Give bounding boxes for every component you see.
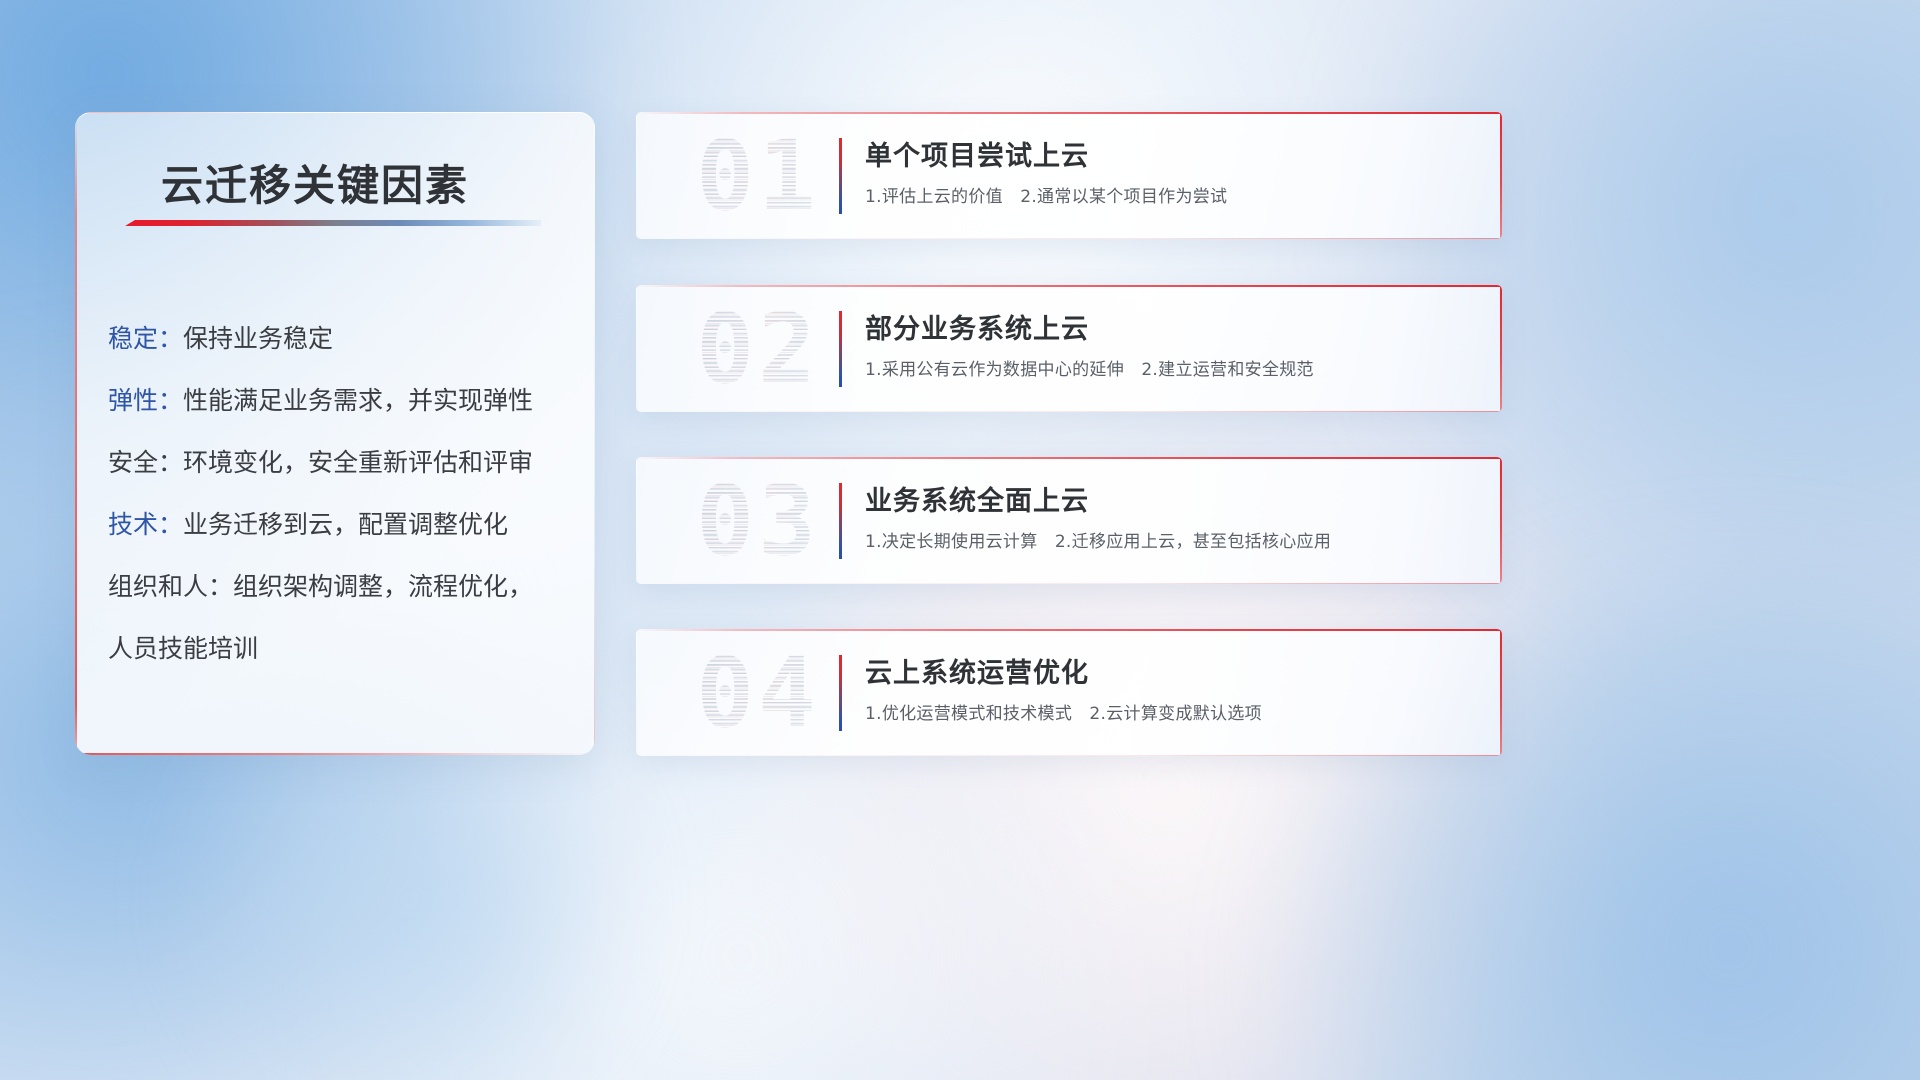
slide-stage: 云迁移关键因素 稳定：保持业务稳定 弹性：性能满足业务需求，并实现弹性 安全：环… bbox=[0, 0, 1920, 1080]
stage-number-ghost-overlay: 01 bbox=[658, 122, 858, 230]
card-right-accent bbox=[1500, 629, 1502, 756]
card-right-accent bbox=[1500, 112, 1502, 239]
stage-title: 云上系统运营优化 bbox=[865, 651, 1089, 690]
page-title: 云迁移关键因素 bbox=[161, 152, 561, 213]
stage-description: 1.优化运营模式和技术模式 2.云计算变成默认选项 bbox=[865, 699, 1262, 724]
stage-number-ghost-overlay: 03 bbox=[658, 467, 858, 575]
card-bottom-accent bbox=[636, 411, 1502, 412]
stage-title: 部分业务系统上云 bbox=[865, 307, 1089, 346]
stage-number-text-overlay: 04 bbox=[696, 637, 820, 749]
card-top-accent bbox=[636, 285, 1502, 287]
list-item-label: 弹性： bbox=[108, 386, 183, 415]
stage-card-02[interactable]: 02 02 部分业务系统上云 1.采用公有云作为数据中心的延伸 2.建立运营和安… bbox=[636, 285, 1502, 412]
card-top-accent bbox=[636, 112, 1502, 114]
stage-description: 1.决定长期使用云计算 2.迁移应用上云，甚至包括核心应用 bbox=[865, 527, 1331, 552]
stage-description: 1.评估上云的价值 2.通常以某个项目作为尝试 bbox=[865, 182, 1227, 207]
list-item: 组织和人：组织架构调整，流程优化， bbox=[108, 556, 578, 618]
list-item-label: 组织和人： bbox=[108, 572, 233, 601]
card-right-accent bbox=[1500, 285, 1502, 412]
list-item-label: 技术： bbox=[108, 510, 183, 539]
card-left-edge bbox=[636, 629, 637, 756]
card-right-edge bbox=[594, 112, 595, 755]
list-item-label: 稳定： bbox=[108, 324, 183, 353]
key-factors-list: 稳定：保持业务稳定 弹性：性能满足业务需求，并实现弹性 安全：环境变化，安全重新… bbox=[108, 308, 578, 680]
list-item-text: 性能满足业务需求，并实现弹性 bbox=[183, 386, 533, 415]
card-top-accent bbox=[636, 457, 1502, 459]
stage-number-text-overlay: 02 bbox=[696, 293, 820, 405]
card-bottom-accent bbox=[636, 755, 1502, 756]
divider-bar bbox=[839, 311, 842, 387]
divider-bar bbox=[839, 655, 842, 731]
stage-description: 1.采用公有云作为数据中心的延伸 2.建立运营和安全规范 bbox=[865, 355, 1314, 380]
divider-bar bbox=[839, 483, 842, 559]
list-item: 安全：环境变化，安全重新评估和评审 bbox=[108, 432, 578, 494]
list-item: 弹性：性能满足业务需求，并实现弹性 bbox=[108, 370, 578, 432]
card-bottom-accent bbox=[636, 583, 1502, 584]
list-item-text: 环境变化，安全重新评估和评审 bbox=[183, 448, 533, 477]
stage-card-03[interactable]: 03 03 业务系统全面上云 1.决定长期使用云计算 2.迁移应用上云，甚至包括… bbox=[636, 457, 1502, 584]
list-item: 稳定：保持业务稳定 bbox=[108, 308, 578, 370]
stage-title: 业务系统全面上云 bbox=[865, 479, 1089, 518]
divider-bar bbox=[839, 138, 842, 214]
card-left-edge bbox=[636, 112, 637, 239]
card-left-edge-red bbox=[75, 112, 77, 755]
card-top-edge bbox=[75, 112, 595, 113]
key-factors-card: 云迁移关键因素 稳定：保持业务稳定 弹性：性能满足业务需求，并实现弹性 安全：环… bbox=[75, 112, 595, 755]
card-bottom-accent bbox=[636, 238, 1502, 239]
card-top-accent bbox=[636, 629, 1502, 631]
title-underline-gradient bbox=[125, 220, 541, 226]
stage-title: 单个项目尝试上云 bbox=[865, 134, 1089, 173]
stage-number-text-overlay: 01 bbox=[696, 120, 820, 232]
list-item: 人员技能培训 bbox=[108, 618, 578, 680]
stage-number-text-overlay: 03 bbox=[696, 465, 820, 577]
list-item-text: 组织架构调整，流程优化， bbox=[233, 572, 533, 601]
card-right-accent bbox=[1500, 457, 1502, 584]
list-item: 技术：业务迁移到云，配置调整优化 bbox=[108, 494, 578, 556]
stage-card-01[interactable]: 01 01 单个项目尝试上云 1.评估上云的价值 2.通常以某个项目作为尝试 bbox=[636, 112, 1502, 239]
card-left-edge bbox=[636, 457, 637, 584]
card-bottom-edge-red bbox=[75, 753, 595, 755]
card-left-edge bbox=[636, 285, 637, 412]
list-item-text: 人员技能培训 bbox=[108, 634, 258, 663]
stage-number-ghost-overlay: 02 bbox=[658, 295, 858, 403]
list-item-text: 保持业务稳定 bbox=[183, 324, 333, 353]
stage-number-ghost-overlay: 04 bbox=[658, 639, 858, 747]
list-item-text: 业务迁移到云，配置调整优化 bbox=[183, 510, 508, 539]
stage-card-04[interactable]: 04 04 云上系统运营优化 1.优化运营模式和技术模式 2.云计算变成默认选项 bbox=[636, 629, 1502, 756]
list-item-label: 安全： bbox=[108, 448, 183, 477]
